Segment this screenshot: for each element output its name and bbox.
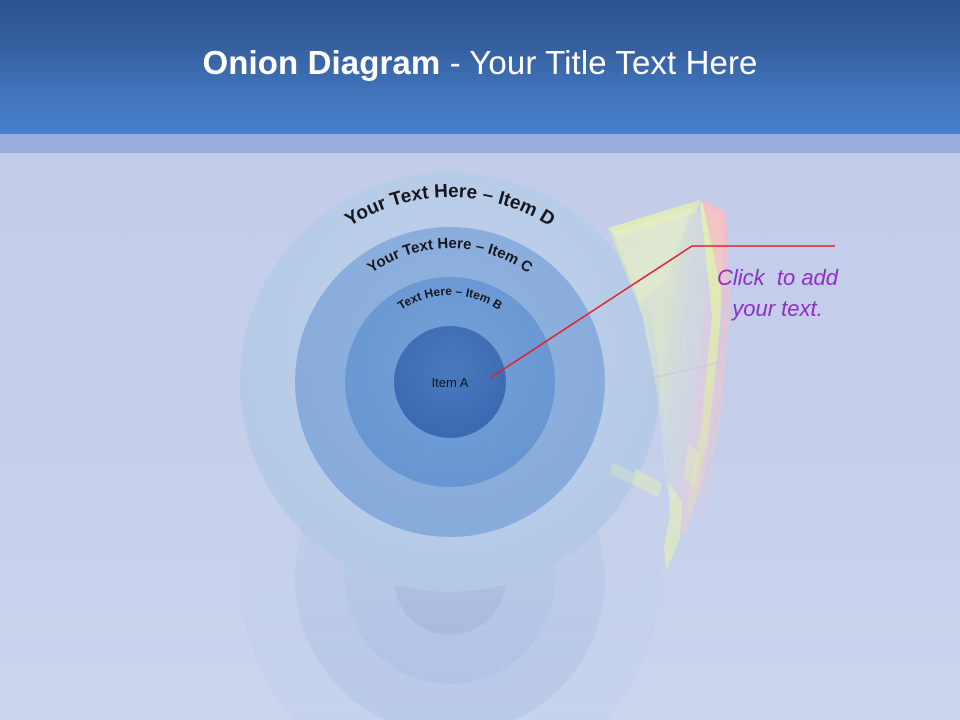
slide-canvas: Onion Diagram - Your Title Text Here bbox=[0, 0, 960, 720]
callout-text[interactable]: Click to add your text. bbox=[690, 262, 865, 324]
header-accent-band bbox=[0, 134, 960, 153]
onion-diagram[interactable]: Your Text Here – Item D Your Text Here –… bbox=[215, 168, 695, 648]
page-title: Onion Diagram - Your Title Text Here bbox=[0, 42, 960, 84]
title-strong: Onion Diagram bbox=[202, 44, 440, 81]
title-light: - Your Title Text Here bbox=[440, 44, 757, 81]
callout-line-2: your text. bbox=[690, 293, 865, 324]
callout-line-1: Click to add bbox=[690, 262, 865, 293]
onion-core-a-label: Item A bbox=[432, 375, 469, 390]
